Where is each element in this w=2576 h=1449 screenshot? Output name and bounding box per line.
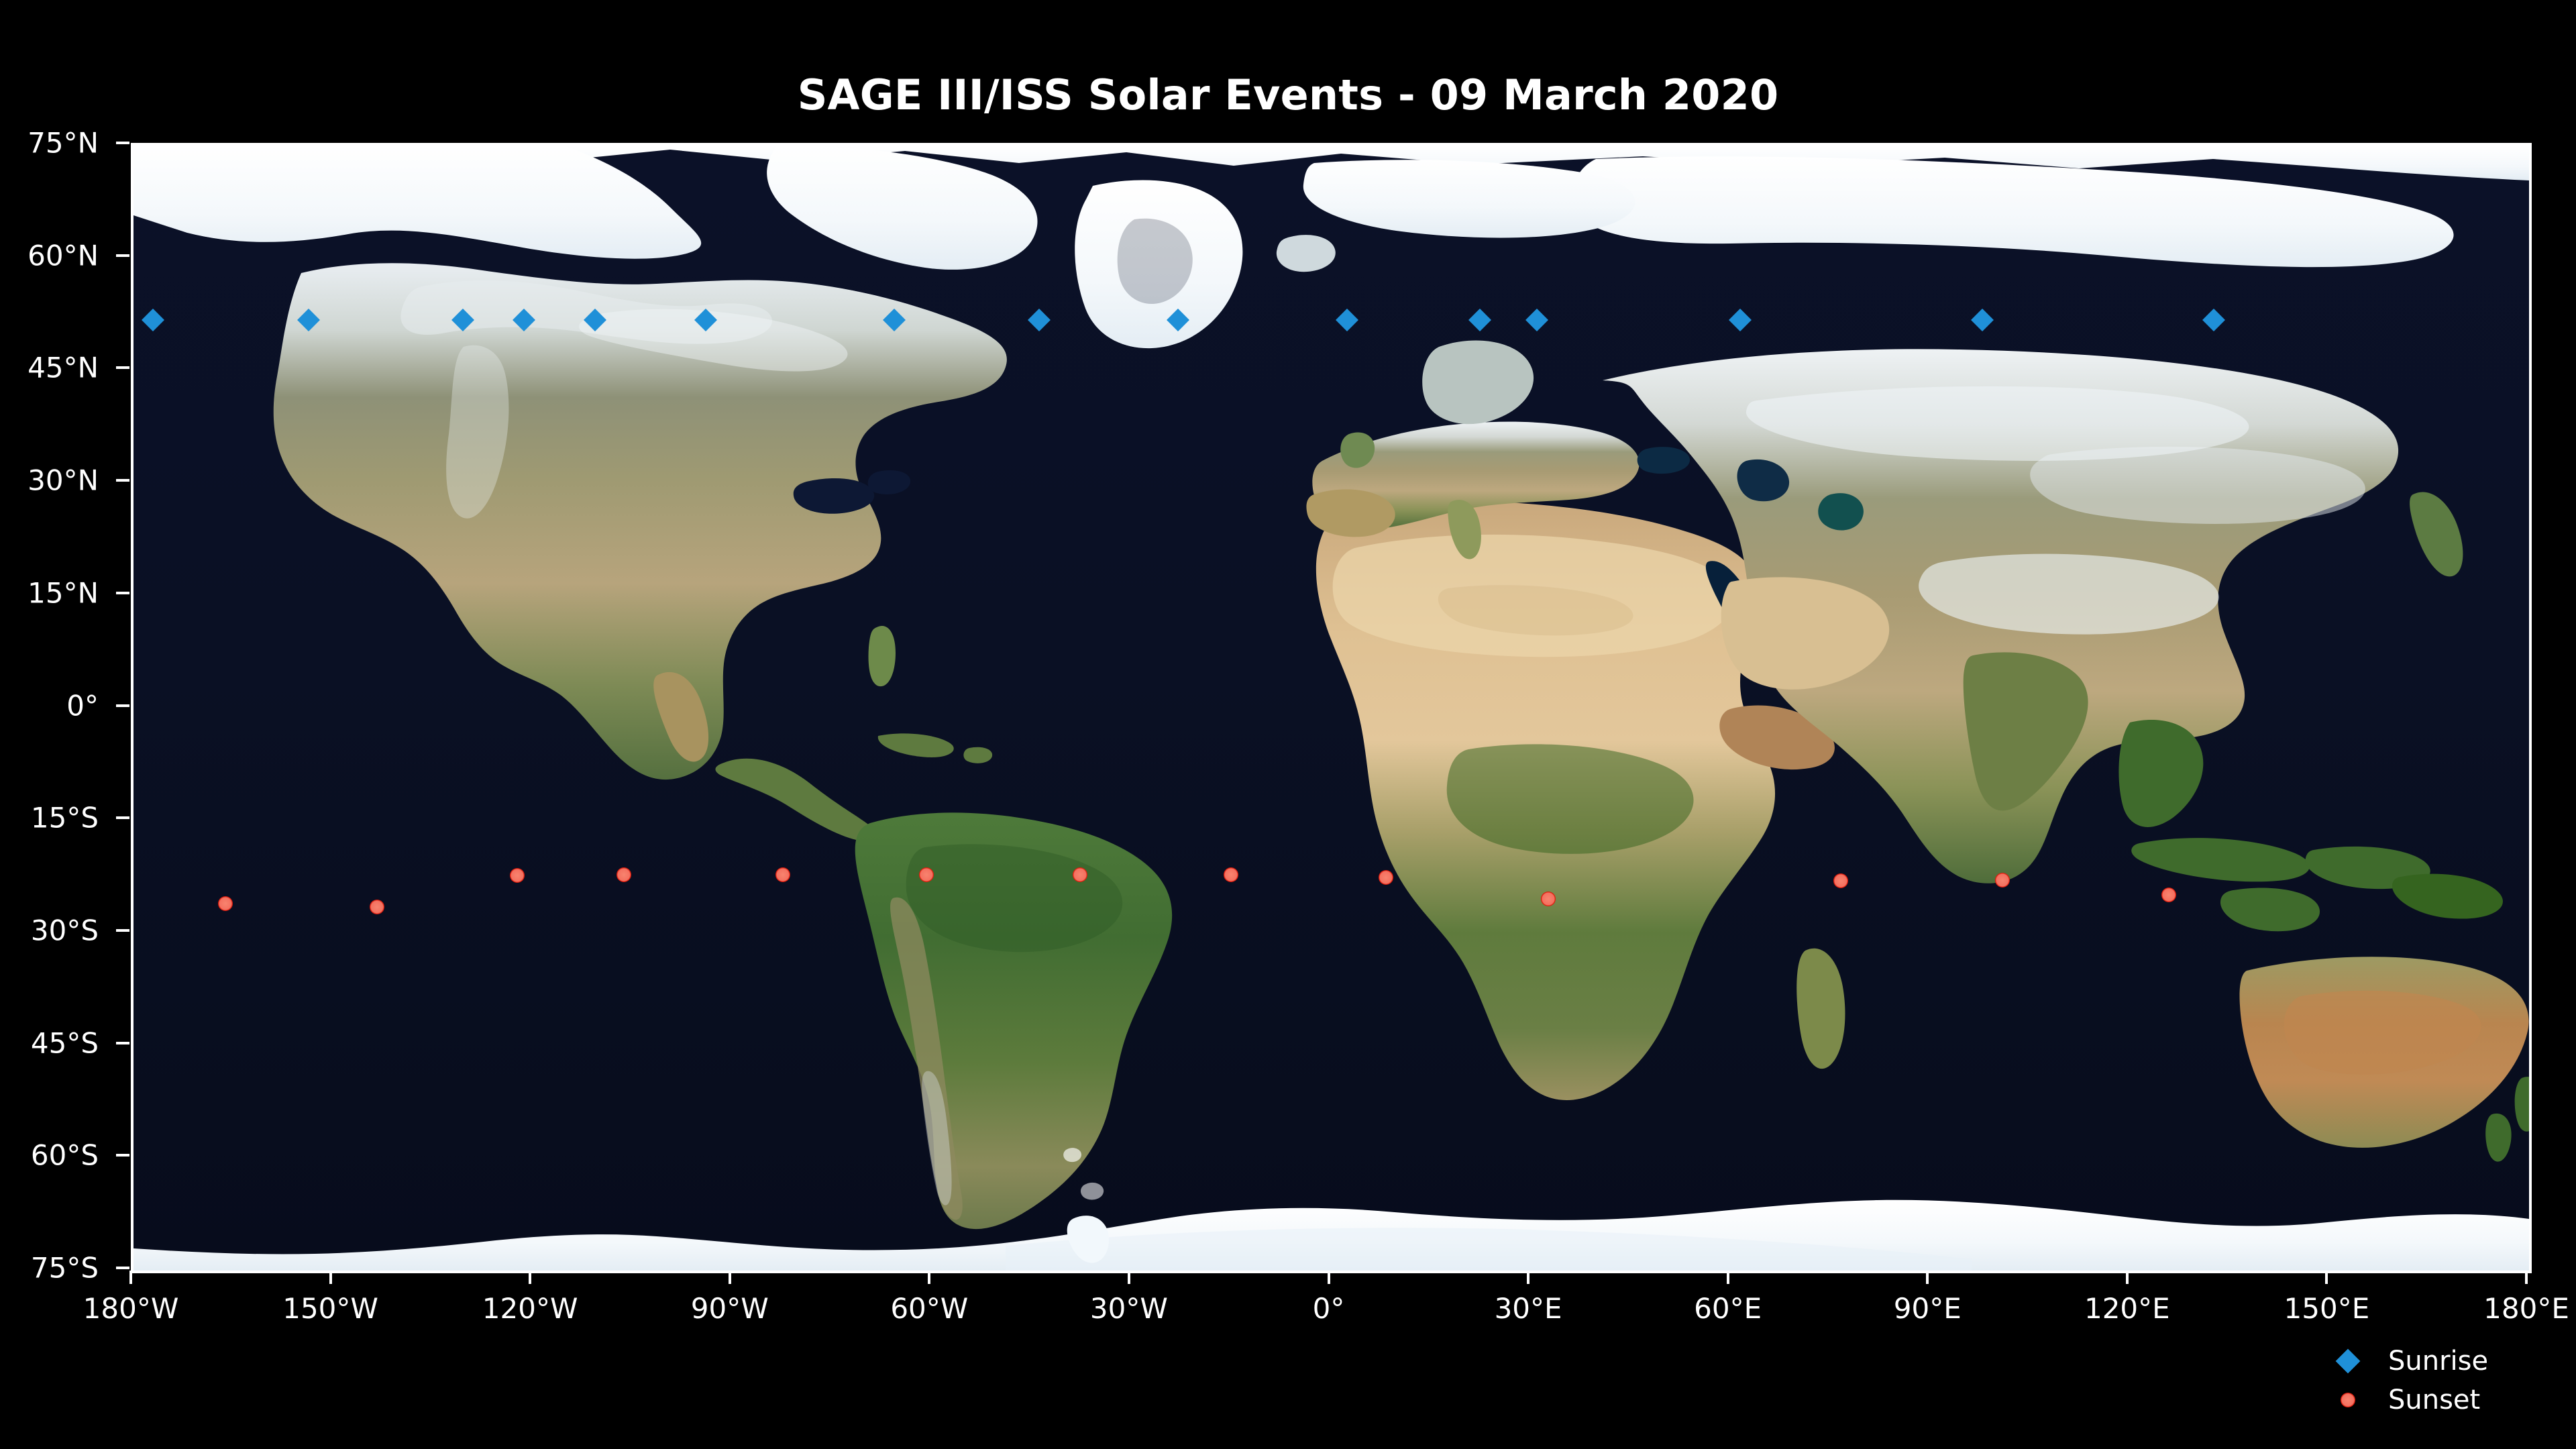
x-tick-mark-9 (1926, 1271, 1929, 1284)
y-tick-mark-9 (116, 1154, 129, 1157)
x-tick-label-12: 180°E (2483, 1292, 2569, 1325)
x-tick-mark-4 (928, 1271, 930, 1284)
y-tick-mark-4 (116, 592, 129, 594)
x-tick-label-4: 60°W (890, 1292, 968, 1325)
x-tick-label-1: 150°W (282, 1292, 378, 1325)
y-tick-label-4: 15°N (0, 576, 99, 609)
x-tick-label-5: 30°W (1090, 1292, 1168, 1325)
x-tick-label-8: 60°E (1694, 1292, 1762, 1325)
y-tick-mark-5 (116, 704, 129, 707)
figure-canvas: SAGE III/ISS Solar Events - 09 March 202… (0, 0, 2576, 1449)
x-tick-label-3: 90°W (691, 1292, 769, 1325)
x-tick-mark-7 (1527, 1271, 1529, 1284)
x-tick-mark-2 (529, 1271, 531, 1284)
x-tick-mark-10 (2126, 1271, 2129, 1284)
y-tick-label-6: 15°S (0, 802, 99, 835)
x-tick-label-0: 180°W (83, 1292, 179, 1325)
world-basemap (133, 146, 2529, 1271)
y-tick-label-10: 75°S (0, 1252, 99, 1285)
y-tick-label-0: 75°N (0, 127, 99, 160)
x-tick-label-7: 30°E (1495, 1292, 1562, 1325)
y-tick-label-8: 45°S (0, 1026, 99, 1059)
x-tick-mark-6 (1328, 1271, 1330, 1284)
y-tick-mark-1 (116, 254, 129, 257)
y-tick-mark-7 (116, 929, 129, 932)
legend-label-sunrise: Sunrise (2388, 1346, 2488, 1377)
sunset-swatch (2341, 1393, 2355, 1407)
map-axes (131, 143, 2532, 1273)
y-tick-label-9: 60°S (0, 1139, 99, 1172)
y-tick-mark-0 (116, 142, 129, 144)
x-tick-mark-11 (2325, 1271, 2328, 1284)
legend-item-sunrise: Sunrise (2308, 1342, 2563, 1381)
x-tick-mark-1 (329, 1271, 332, 1284)
y-tick-mark-2 (116, 366, 129, 369)
legend-label-sunset: Sunset (2388, 1385, 2480, 1415)
y-tick-mark-3 (116, 479, 129, 482)
y-tick-label-7: 30°S (0, 914, 99, 947)
x-tick-label-2: 120°W (482, 1292, 578, 1325)
sunrise-swatch (2336, 1349, 2361, 1374)
x-tick-mark-12 (2525, 1271, 2528, 1284)
x-tick-mark-0 (129, 1271, 132, 1284)
sunset-circle-icon (2308, 1393, 2388, 1407)
y-tick-label-1: 60°N (0, 239, 99, 272)
y-tick-mark-6 (116, 816, 129, 819)
legend: Sunrise Sunset (2308, 1342, 2563, 1419)
y-tick-mark-8 (116, 1042, 129, 1044)
sunrise-diamond-icon (2308, 1352, 2388, 1370)
x-tick-label-6: 0° (1313, 1292, 1345, 1325)
x-tick-mark-8 (1727, 1271, 1729, 1284)
y-tick-label-3: 30°N (0, 464, 99, 497)
legend-item-sunset: Sunset (2308, 1381, 2563, 1419)
x-tick-mark-5 (1128, 1271, 1130, 1284)
y-tick-mark-10 (116, 1267, 129, 1269)
chart-title: SAGE III/ISS Solar Events - 09 March 202… (0, 70, 2576, 119)
x-tick-label-11: 150°E (2284, 1292, 2370, 1325)
y-tick-label-5: 0° (0, 689, 99, 722)
x-tick-mark-3 (729, 1271, 731, 1284)
world-basemap-svg (133, 146, 2529, 1271)
x-tick-label-9: 90°E (1894, 1292, 1962, 1325)
y-tick-label-2: 45°N (0, 352, 99, 384)
x-tick-label-10: 120°E (2084, 1292, 2170, 1325)
